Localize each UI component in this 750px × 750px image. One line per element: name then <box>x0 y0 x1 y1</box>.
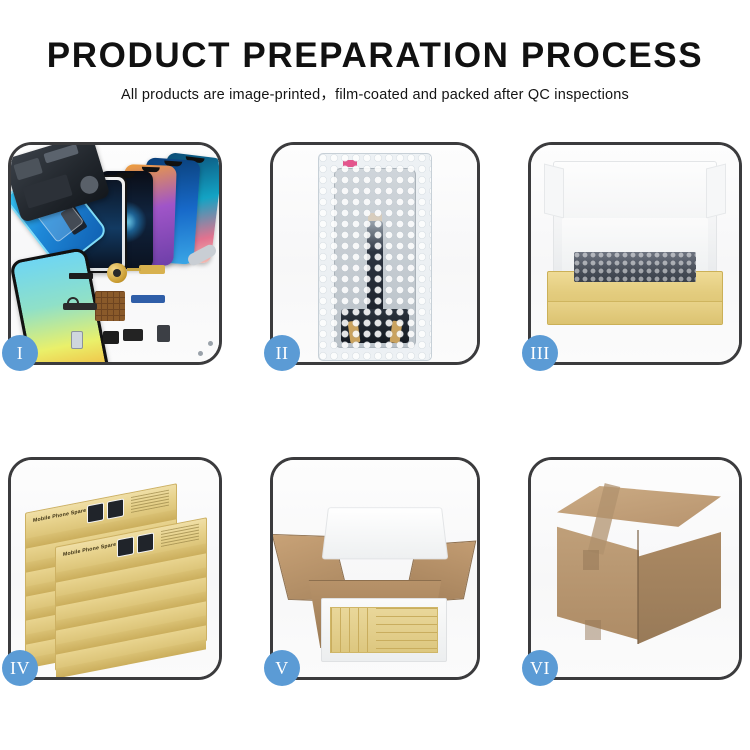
step-2-image <box>273 145 477 362</box>
product-preparation-infographic: PRODUCT PREPARATION PROCESS All products… <box>0 0 750 750</box>
step-panel-2[interactable]: II <box>270 142 480 365</box>
step-badge-6: VI <box>522 650 558 686</box>
step-panel-3[interactable]: III <box>528 142 742 365</box>
earpiece-speaker-part <box>69 273 93 279</box>
chip-grid-part <box>95 291 125 321</box>
retail-box-stack: Mobile Phone Spare Parts Mobile Phone Sp… <box>21 478 211 668</box>
step-panel-4[interactable]: Mobile Phone Spare Parts Mobile Phone Sp… <box>8 457 222 680</box>
bubble-wrapped-contents <box>574 252 696 282</box>
kraft-inner-box <box>547 271 723 325</box>
step-3-image <box>531 145 739 362</box>
step-5-image <box>273 460 477 677</box>
step-4-image: Mobile Phone Spare Parts Mobile Phone Sp… <box>11 460 219 677</box>
step-panel-1[interactable]: I <box>8 142 222 365</box>
battery-connector-part <box>157 325 170 342</box>
foam-lid <box>322 507 449 559</box>
loudspeaker-part <box>123 329 143 341</box>
vibration-motor-part <box>107 263 127 283</box>
blue-flex-cable-part <box>131 295 165 303</box>
step-6-image <box>531 460 739 677</box>
step-panel-6[interactable]: VI <box>528 457 742 680</box>
process-steps-grid: I <box>0 0 750 750</box>
step-badge-2: II <box>264 335 300 371</box>
black-flex-cable-part <box>63 303 97 310</box>
camera-module-part <box>103 331 119 344</box>
foam-liner-box <box>321 598 447 662</box>
open-shipping-carton <box>295 552 455 648</box>
step-badge-3: III <box>522 335 558 371</box>
bubble-wrap-bag <box>318 153 432 361</box>
step-badge-4: IV <box>2 650 38 686</box>
step-1-image <box>11 145 219 362</box>
packed-retail-boxes <box>330 607 438 653</box>
gold-flex-cable-part <box>139 265 165 274</box>
bubble-texture <box>319 154 431 360</box>
sim-tray-part <box>71 331 83 349</box>
sealed-carton <box>557 486 721 652</box>
step-badge-1: I <box>2 335 38 371</box>
screw-part-1 <box>198 351 203 356</box>
carton-right-face <box>638 532 721 644</box>
screw-part-2 <box>208 341 213 346</box>
step-badge-5: V <box>264 650 300 686</box>
step-panel-5[interactable]: V <box>270 457 480 680</box>
